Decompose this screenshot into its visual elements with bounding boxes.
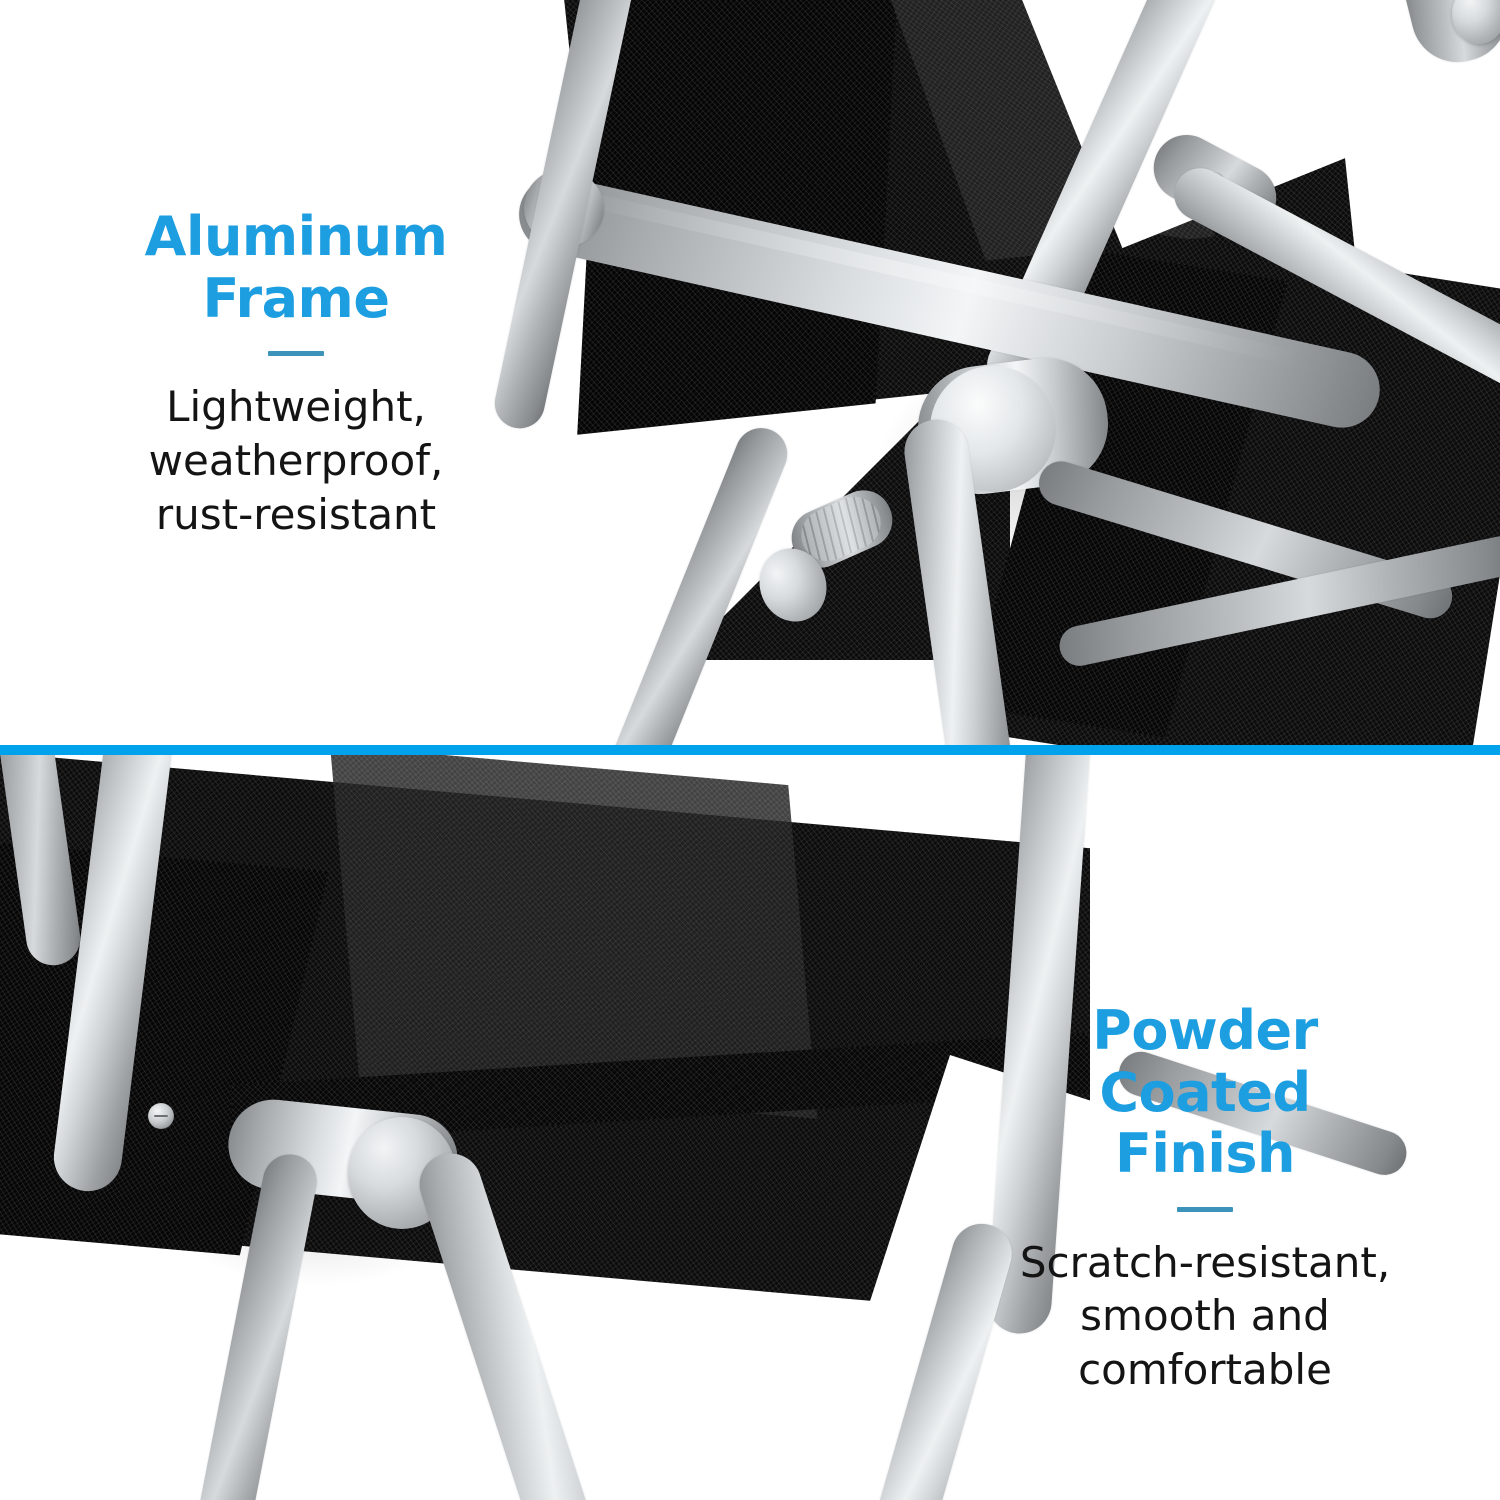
infographic-root: Aluminum Frame Lightweight, weatherproof… — [0, 0, 1500, 1500]
callout-aluminum-frame: Aluminum Frame Lightweight, weatherproof… — [96, 206, 496, 541]
callout-rule-top — [268, 351, 324, 356]
panel-divider-bar — [0, 745, 1500, 755]
callout-powder-coated-finish: Powder Coated Finish Scratch-resistant, … — [1000, 1000, 1410, 1397]
callout-heading-powder-coated-finish: Powder Coated Finish — [1000, 1000, 1410, 1185]
callout-heading-aluminum-frame: Aluminum Frame — [96, 206, 496, 329]
pivot-screw-left — [148, 1103, 174, 1129]
callout-rule-bottom — [1177, 1207, 1233, 1212]
callout-body-aluminum-frame: Lightweight, weatherproof, rust-resistan… — [96, 380, 496, 541]
callout-body-powder-coated-finish: Scratch-resistant, smooth and comfortabl… — [1000, 1236, 1410, 1397]
